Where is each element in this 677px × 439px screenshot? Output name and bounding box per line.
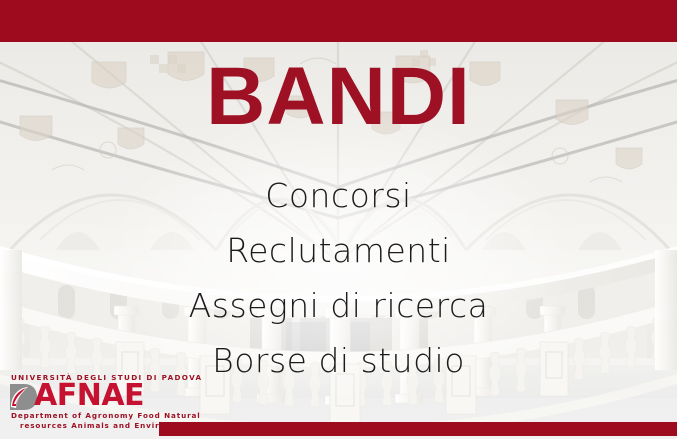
logo-department-line-2: resources Animals and Environment — [20, 421, 178, 431]
poster-canvas: BANDI Concorsi Reclutamenti Assegni di r… — [0, 0, 677, 439]
afnae-logo: UNIVERSITÀ DEGLI STUDI DI PADOVA AFNAE D… — [8, 373, 178, 431]
logo-acronym: AFNAE — [34, 380, 144, 412]
subtitle-list: Concorsi Reclutamenti Assegni di ricerca… — [0, 168, 677, 388]
page-title: BANDI — [0, 56, 677, 138]
subtitle-line-assegni: Assegni di ricerca — [0, 278, 677, 333]
subtitle-line-reclutamenti: Reclutamenti — [0, 223, 677, 278]
top-red-band — [0, 0, 677, 42]
subtitle-line-concorsi: Concorsi — [0, 168, 677, 223]
bottom-red-bar — [159, 422, 677, 436]
logo-wordmark-row: AFNAE — [8, 383, 178, 411]
